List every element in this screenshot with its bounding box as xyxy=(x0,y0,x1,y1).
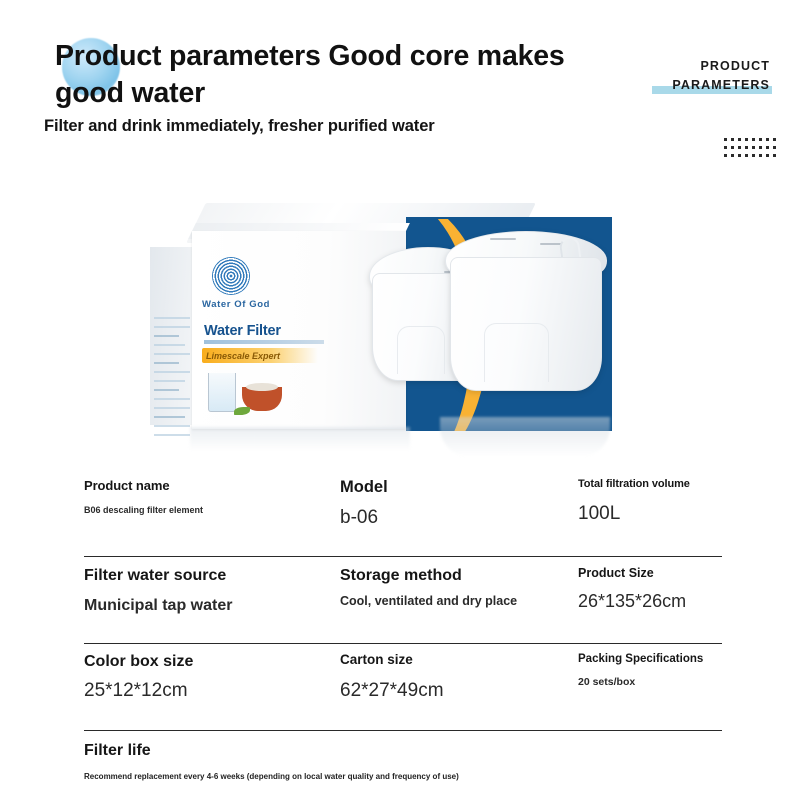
spec-label: Product Size xyxy=(578,566,722,581)
spec-label: Color box size xyxy=(84,652,326,671)
brand-logo-icon xyxy=(212,257,250,295)
spec-label: Total filtration volume xyxy=(578,478,722,491)
spec-label: Carton size xyxy=(340,652,566,668)
box-product-title: Water Filter xyxy=(204,323,281,339)
spec-label: Filter life xyxy=(84,741,722,760)
filter-life-row: Filter life Recommend replacement every … xyxy=(84,731,722,801)
page-header: Product parameters Good core makes good … xyxy=(0,0,800,185)
spec-cell: Product Size 26*135*26cm xyxy=(574,566,722,616)
spec-value: Recommend replacement every 4-6 weeks (d… xyxy=(84,771,514,783)
spec-label: Model xyxy=(340,478,566,498)
spec-label: Packing Specifications xyxy=(578,652,722,666)
spec-cell: Carton size 62*27*49cm xyxy=(334,652,574,702)
spec-value: 25*12*12cm xyxy=(84,679,326,702)
table-row: Color box size 25*12*12cm Carton size 62… xyxy=(84,644,722,731)
cartridge-vent xyxy=(490,238,516,240)
limescale-banner: Limescale Expert xyxy=(202,348,318,363)
spec-label: Product name xyxy=(84,478,326,494)
cartridge-notch xyxy=(397,326,445,374)
brand-name: Water Of God xyxy=(202,299,270,310)
spec-value: Cool, ventilated and dry place xyxy=(340,593,566,609)
cartridge-reflection xyxy=(440,417,610,457)
box-product-subtitle-bar xyxy=(204,340,324,344)
spec-cell: Packing Specifications 20 sets/box xyxy=(574,652,722,702)
table-row: Product name B06 descaling filter elemen… xyxy=(84,470,722,557)
spec-label: Filter water source xyxy=(84,566,326,585)
corner-label-line-1: PRODUCT xyxy=(672,57,770,76)
spec-cell: Color box size 25*12*12cm xyxy=(84,652,334,702)
spec-cell: Model b-06 xyxy=(334,478,574,529)
cartridge-body xyxy=(450,257,602,391)
table-row: Filter water source Municipal tap water … xyxy=(84,557,722,644)
glass-illustration-icon xyxy=(208,373,236,412)
dot-grid-decoration xyxy=(724,138,780,162)
page-title: Product parameters Good core makes good … xyxy=(55,38,575,112)
specification-table: Product name B06 descaling filter elemen… xyxy=(84,470,722,801)
carton-side-panel xyxy=(150,247,196,425)
spec-value: b-06 xyxy=(340,506,566,529)
carton-side-text-lines xyxy=(154,317,190,467)
corner-label: PRODUCT PARAMETERS xyxy=(672,57,770,96)
page-subtitle: Filter and drink immediately, fresher pu… xyxy=(44,117,435,136)
spec-value: 62*27*49cm xyxy=(340,679,566,702)
spec-label: Storage method xyxy=(340,566,566,585)
product-photo: Water Of God Water Filter Limescale Expe… xyxy=(150,195,670,460)
spec-cell: Product name B06 descaling filter elemen… xyxy=(84,478,334,529)
spec-value: 26*135*26cm xyxy=(578,591,722,613)
box-reflection xyxy=(190,427,410,451)
spec-cell: Filter water source Municipal tap water xyxy=(84,566,334,616)
spec-value: B06 descaling filter element xyxy=(84,505,326,517)
cartridge-notch xyxy=(484,323,549,382)
spec-cell: Storage method Cool, ventilated and dry … xyxy=(334,566,574,616)
filter-cartridge-front xyxy=(450,231,602,417)
spec-cell: Total filtration volume 100L xyxy=(574,478,722,529)
corner-label-line-2: PARAMETERS xyxy=(672,76,770,95)
spec-value: 100L xyxy=(578,502,722,525)
spec-value: 20 sets/box xyxy=(578,676,722,689)
spec-value: Municipal tap water xyxy=(84,596,326,616)
